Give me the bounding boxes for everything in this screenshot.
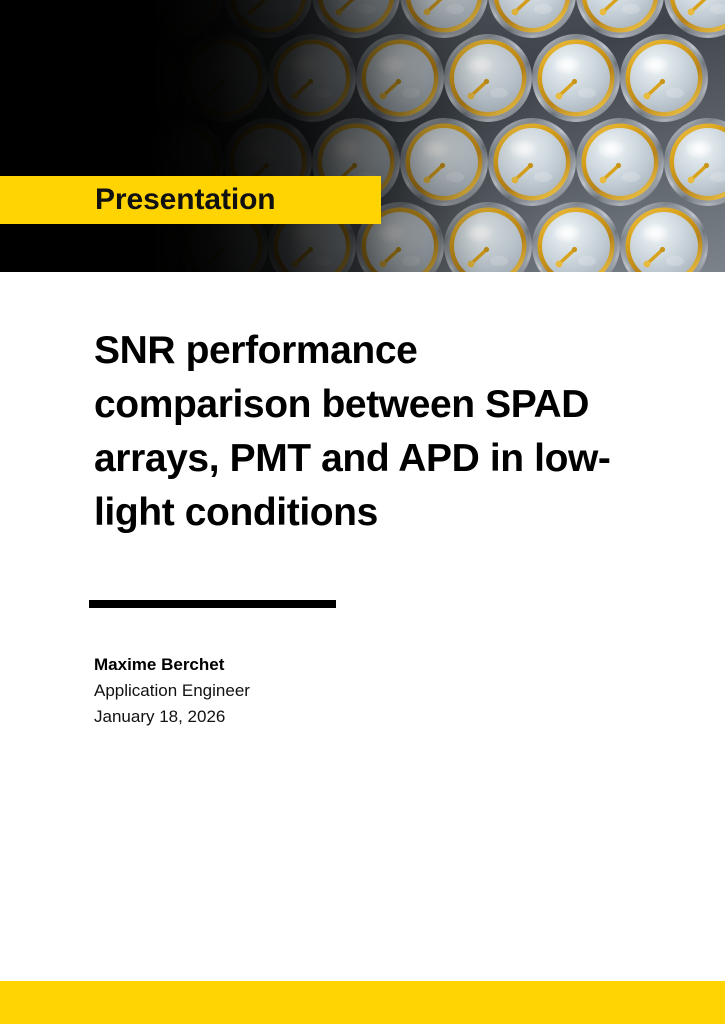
page-title: SNR performance comparison between SPAD … bbox=[94, 324, 614, 540]
byline: Maxime Berchet Application Engineer Janu… bbox=[94, 652, 514, 730]
presentation-kicker-banner: Presentation bbox=[0, 176, 381, 224]
byline-date: January 18, 2026 bbox=[94, 704, 514, 730]
byline-author-role: Application Engineer bbox=[94, 678, 514, 704]
title-rule bbox=[89, 600, 336, 608]
kicker-label: Presentation bbox=[95, 185, 276, 215]
hero-image bbox=[0, 0, 725, 272]
pmt-tube-array-photo bbox=[0, 0, 725, 272]
footer-bar bbox=[0, 981, 725, 1024]
byline-author-name: Maxime Berchet bbox=[94, 652, 514, 678]
presentation-title-slide: Presentation SNR performance comparison … bbox=[0, 0, 725, 1024]
slide-body: SNR performance comparison between SPAD … bbox=[0, 272, 725, 981]
pmt-tube-array-graphic bbox=[0, 0, 725, 272]
